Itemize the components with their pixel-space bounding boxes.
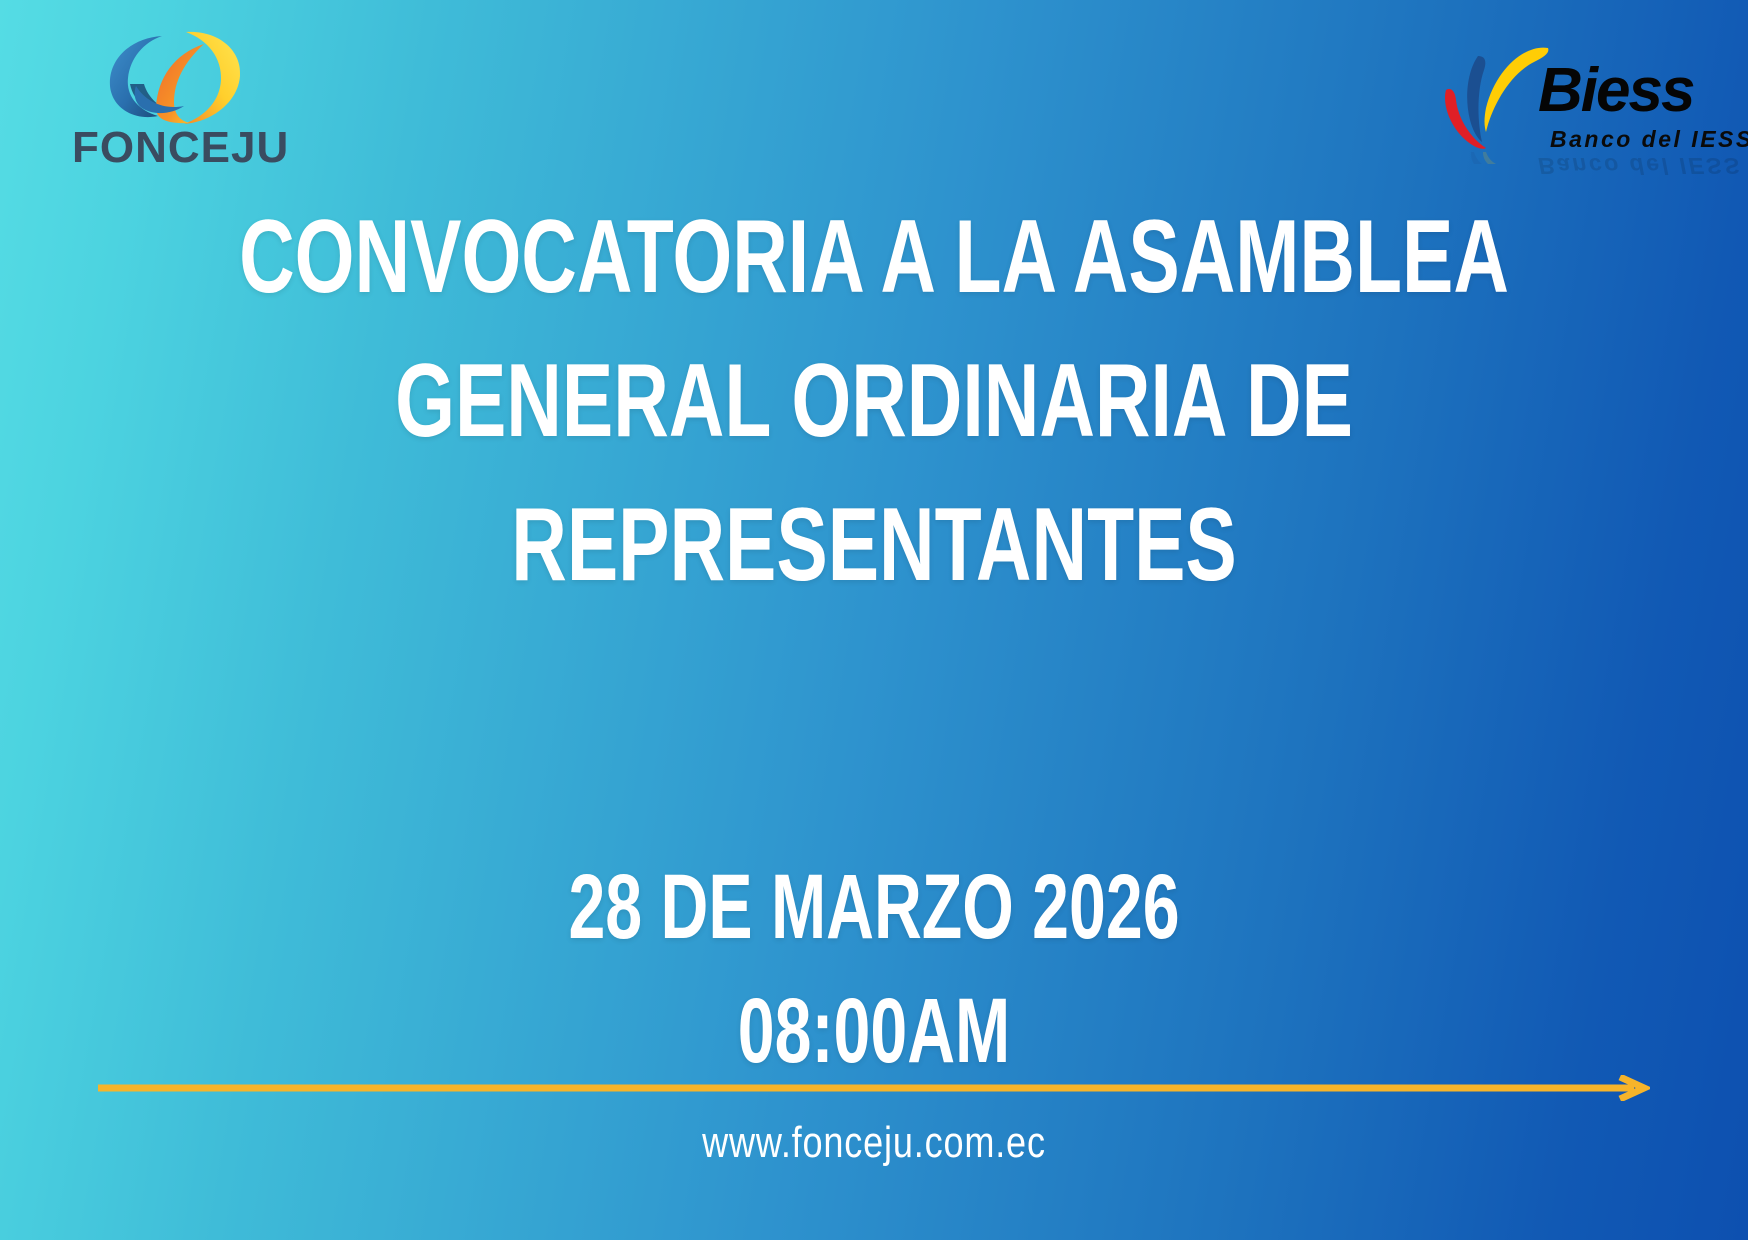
biess-logo: Biess Banco del IESS Banco del IESS	[1430, 34, 1720, 174]
fonceju-wordmark: FONCEJU	[72, 126, 322, 170]
biess-wordmark: Biess	[1538, 60, 1693, 122]
fonceju-logo: FONCEJU	[72, 28, 322, 178]
arrow-right-rule-icon	[98, 1075, 1650, 1101]
headline: CONVOCATORIA A LA ASAMBLEA GENERAL ORDIN…	[0, 185, 1748, 617]
headline-line-2: GENERAL ORDINARIA DE	[227, 329, 1521, 473]
event-datetime: 28 DE MARZO 2026 08:00AM	[0, 845, 1748, 1093]
biess-tagline: Banco del IESS	[1550, 126, 1748, 153]
event-date: 28 DE MARZO 2026	[245, 845, 1504, 969]
biess-tagline-reflection: Banco del IESS	[1538, 152, 1742, 179]
footer-website: www.fonceju.com.ec	[157, 1118, 1590, 1168]
headline-line-1: CONVOCATORIA A LA ASAMBLEA	[227, 185, 1521, 329]
fonceju-swirl-icon	[100, 28, 270, 128]
poster-canvas: FONCEJU Biess Banco del IESS Banco del I…	[0, 0, 1748, 1240]
headline-line-3: REPRESENTANTES	[227, 473, 1521, 617]
